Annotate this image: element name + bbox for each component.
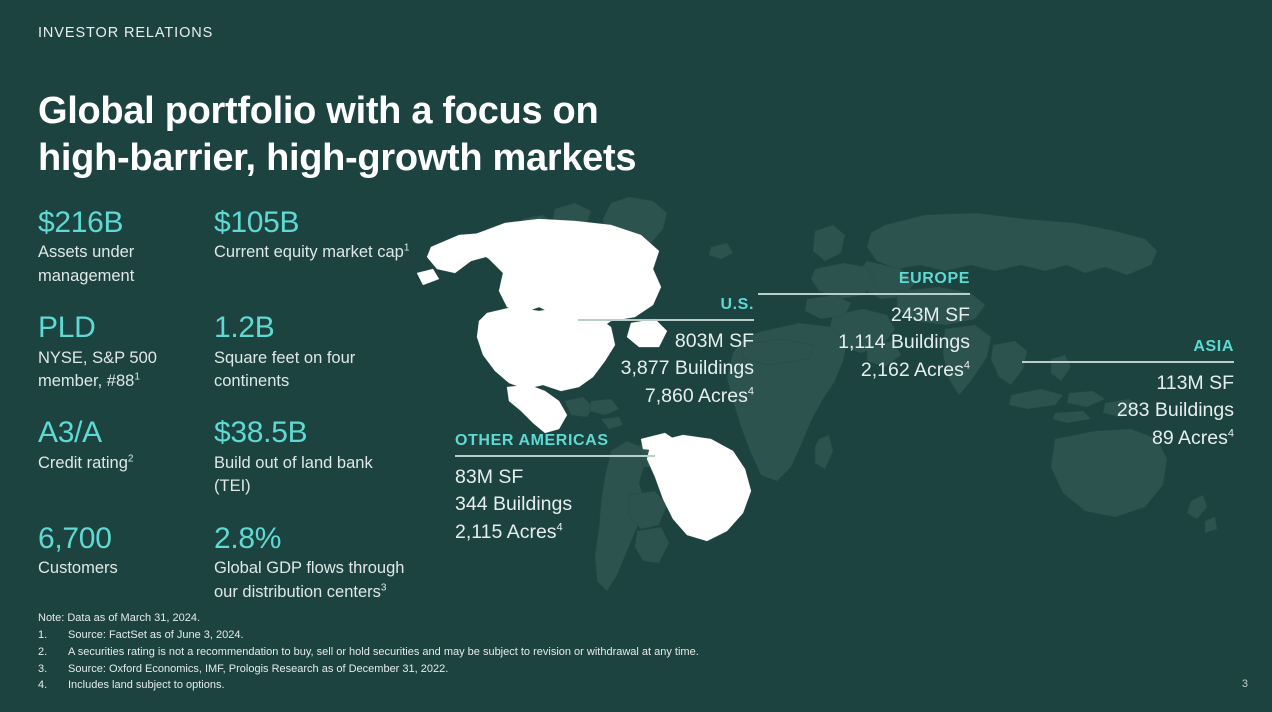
footnote-item: A securities rating is not a recommendat… [38, 644, 699, 661]
stat-value: 2.8% [214, 521, 410, 556]
page-title-line-1: Global portfolio with a focus on [38, 88, 636, 135]
stats-grid: $216B Assets under management $105B Curr… [38, 205, 410, 604]
callout-label: U.S. [578, 296, 754, 314]
footnote-ref: 4 [557, 521, 563, 533]
map-callout-asia: ASIA 113M SF 283 Buildings 89 Acres4 [1072, 338, 1234, 453]
callout-line-acres: 7,860 Acres4 [578, 383, 754, 411]
stat-label: Credit rating2 [38, 452, 214, 475]
callout-rule [578, 319, 754, 321]
stat-label-text: Customers [38, 559, 118, 577]
stat-global-gdp-flows: 2.8% Global GDP flows through our distri… [214, 521, 410, 604]
footnote-ref: 1 [134, 372, 140, 383]
map-callout-other-americas: OTHER AMERICAS 83M SF 344 Buildings 2,11… [455, 432, 655, 547]
stat-value: 1.2B [214, 310, 410, 345]
stat-current-equity-market-cap: $105B Current equity market cap1 [214, 205, 410, 288]
footnote-list: Source: FactSet as of June 3, 2024. A se… [38, 627, 699, 694]
callout-rule [758, 293, 970, 295]
callout-line-acres: 2,115 Acres4 [455, 519, 655, 547]
stat-label-text: Square feet on four continents [214, 349, 355, 390]
map-callout-us: U.S. 803M SF 3,877 Buildings 7,860 Acres… [578, 296, 754, 411]
callout-label: OTHER AMERICAS [455, 432, 655, 450]
callout-line-buildings: 3,877 Buildings [578, 355, 754, 383]
footnote-ref: 4 [964, 359, 970, 371]
stat-value: 6,700 [38, 521, 214, 556]
callout-line-acres: 2,162 Acres4 [820, 357, 970, 385]
map-callout-europe: EUROPE 243M SF 1,114 Buildings 2,162 Acr… [820, 270, 970, 385]
footnote-note: Note: Data as of March 31, 2024. [38, 610, 699, 627]
footnote-item: Source: FactSet as of June 3, 2024. [38, 627, 699, 644]
stat-ticker: PLD NYSE, S&P 500 member, #881 [38, 310, 214, 393]
callout-line-buildings: 283 Buildings [1072, 397, 1234, 425]
eyebrow-label: INVESTOR RELATIONS [38, 25, 213, 41]
stat-value: $216B [38, 205, 214, 240]
stat-label: Build out of land bank (TEI) [214, 452, 410, 499]
stat-label: Global GDP flows through our distributio… [214, 557, 410, 604]
footnote-item: Source: Oxford Economics, IMF, Prologis … [38, 661, 699, 678]
footnote-ref: 1 [404, 243, 410, 254]
callout-rule [1022, 361, 1234, 363]
callout-line-sf: 113M SF [1072, 370, 1234, 398]
stat-credit-rating: A3/A Credit rating2 [38, 415, 214, 498]
stat-value: A3/A [38, 415, 214, 450]
stat-label: Square feet on four continents [214, 347, 410, 394]
stat-label-text: Build out of land bank (TEI) [214, 454, 373, 495]
footnote-ref: 3 [381, 582, 387, 593]
callout-acres-text: 2,115 Acres [455, 521, 557, 543]
callout-rule [455, 455, 655, 457]
stat-label: Assets under management [38, 241, 214, 288]
callout-line-buildings: 344 Buildings [455, 491, 655, 519]
callout-line-sf: 803M SF [578, 328, 754, 356]
stat-label-text: NYSE, S&P 500 member, #88 [38, 349, 157, 390]
footnote-item: Includes land subject to options. [38, 677, 699, 694]
callout-acres-text: 7,860 Acres [645, 385, 748, 407]
footnote-ref: 4 [1228, 427, 1234, 439]
callout-acres-text: 2,162 Acres [861, 359, 964, 381]
stat-label: Customers [38, 557, 214, 580]
slide: INVESTOR RELATIONS Global portfolio with… [0, 0, 1272, 712]
callout-line-sf: 83M SF [455, 464, 655, 492]
stat-value: $38.5B [214, 415, 410, 450]
stat-land-bank: $38.5B Build out of land bank (TEI) [214, 415, 410, 498]
callout-line-buildings: 1,114 Buildings [820, 329, 970, 357]
callout-label: ASIA [1072, 338, 1234, 356]
stat-label-text: Assets under management [38, 243, 134, 284]
footnote-ref: 4 [748, 385, 754, 397]
page-title-line-2: high-barrier, high-growth markets [38, 135, 636, 182]
stat-label-text: Credit rating [38, 454, 128, 472]
stat-label: NYSE, S&P 500 member, #881 [38, 347, 214, 394]
callout-label: EUROPE [820, 270, 970, 288]
stat-customers: 6,700 Customers [38, 521, 214, 604]
page-number: 3 [1242, 678, 1248, 690]
stat-assets-under-management: $216B Assets under management [38, 205, 214, 288]
stat-value: $105B [214, 205, 410, 240]
stat-label: Current equity market cap1 [214, 241, 410, 264]
callout-line-acres: 89 Acres4 [1072, 425, 1234, 453]
footnotes: Note: Data as of March 31, 2024. Source:… [38, 610, 699, 694]
stat-value: PLD [38, 310, 214, 345]
callout-acres-text: 89 Acres [1152, 427, 1228, 449]
footnote-ref: 2 [128, 453, 134, 464]
callout-line-sf: 243M SF [820, 302, 970, 330]
stat-label-text: Current equity market cap [214, 243, 404, 261]
stat-label-text: Global GDP flows through our distributio… [214, 559, 404, 600]
stat-square-feet: 1.2B Square feet on four continents [214, 310, 410, 393]
page-title: Global portfolio with a focus on high-ba… [38, 88, 636, 181]
